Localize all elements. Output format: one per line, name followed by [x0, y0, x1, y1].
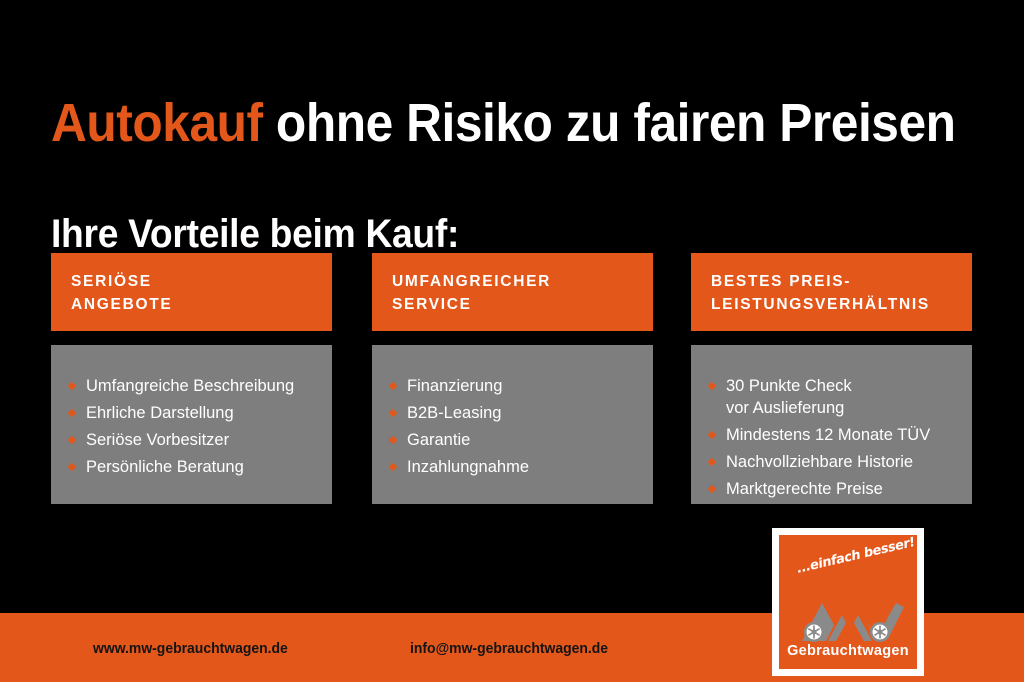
- benefit-column-2-list: Finanzierung B2B-Leasing Garantie Inzahl…: [372, 345, 653, 504]
- list-item: Nachvollziehbare Historie: [709, 451, 958, 473]
- bullet-diamond-icon: [708, 485, 716, 493]
- list-item-label: Seriöse Vorbesitzer: [86, 431, 229, 449]
- logo-slogan: ...einfach besser!: [795, 535, 916, 577]
- bullet-diamond-icon: [68, 382, 76, 390]
- list-item-label: Inzahlungnahme: [407, 458, 529, 476]
- benefit-column-1-header-line-2: ANGEBOTE: [71, 293, 312, 316]
- list-item-label: Marktgerechte Preise: [726, 480, 883, 498]
- list-item-label: Mindestens 12 Monate TÜV: [726, 426, 930, 444]
- benefit-column-3-list: 30 Punkte Check vor Auslieferung Mindest…: [691, 345, 972, 504]
- section-subtitle: Ihre Vorteile beim Kauf:: [51, 211, 459, 257]
- bullet-diamond-icon: [708, 431, 716, 439]
- benefit-column-2-header-line-1: UMFANGREICHER: [392, 270, 633, 293]
- mw-monogram-icon: [792, 595, 904, 643]
- benefit-column-1-header-line-1: SERIÖSE: [71, 270, 312, 293]
- footer-website-link[interactable]: www.mw-gebrauchtwagen.de: [93, 640, 288, 657]
- list-item-label: Umfangreiche Beschreibung: [86, 377, 294, 395]
- company-logo: ...einfach besser!: [772, 528, 924, 676]
- list-item: 30 Punkte Check vor Auslieferung: [709, 375, 958, 419]
- list-item: Inzahlungnahme: [390, 456, 639, 478]
- page-title-accent: Autokauf: [51, 93, 263, 153]
- benefit-column-3: BESTES PREIS- LEISTUNGSVERHÄLTNIS 30 Pun…: [691, 253, 972, 331]
- bullet-diamond-icon: [389, 409, 397, 417]
- list-item: Mindestens 12 Monate TÜV: [709, 424, 958, 446]
- page-title: Autokauf ohne Risiko zu fairen Preisen: [51, 93, 956, 153]
- list-item-label: Garantie: [407, 431, 470, 449]
- bullet-diamond-icon: [708, 458, 716, 466]
- list-item: Persönliche Beratung: [69, 456, 318, 478]
- list-item-label: Ehrliche Darstellung: [86, 404, 234, 422]
- company-logo-inner: ...einfach besser!: [779, 535, 917, 669]
- benefit-column-3-header-line-2: LEISTUNGSVERHÄLTNIS: [711, 293, 952, 316]
- bullet-diamond-icon: [389, 463, 397, 471]
- logo-company-name: Gebrauchtwagen: [779, 643, 917, 659]
- list-item: B2B-Leasing: [390, 402, 639, 424]
- page-title-rest: ohne Risiko zu fairen Preisen: [263, 93, 956, 153]
- benefit-column-1-header: SERIÖSE ANGEBOTE: [51, 253, 332, 331]
- bullet-diamond-icon: [68, 436, 76, 444]
- footer-email-link[interactable]: info@mw-gebrauchtwagen.de: [410, 640, 608, 657]
- benefit-column-2-header: UMFANGREICHER SERVICE: [372, 253, 653, 331]
- list-item-label: Persönliche Beratung: [86, 458, 244, 476]
- bullet-diamond-icon: [389, 436, 397, 444]
- bullet-diamond-icon: [68, 463, 76, 471]
- benefit-column-3-header: BESTES PREIS- LEISTUNGSVERHÄLTNIS: [691, 253, 972, 331]
- benefit-column-1: SERIÖSE ANGEBOTE Umfangreiche Beschreibu…: [51, 253, 332, 331]
- list-item-label: 30 Punkte Check: [726, 377, 852, 395]
- list-item: Umfangreiche Beschreibung: [69, 375, 318, 397]
- benefit-column-3-header-line-1: BESTES PREIS-: [711, 270, 952, 293]
- list-item-label: Nachvollziehbare Historie: [726, 453, 913, 471]
- bullet-diamond-icon: [389, 382, 397, 390]
- list-item-label-second-line: vor Auslieferung: [726, 397, 958, 419]
- list-item: Finanzierung: [390, 375, 639, 397]
- list-item-label: B2B-Leasing: [407, 404, 501, 422]
- benefit-column-1-list: Umfangreiche Beschreibung Ehrliche Darst…: [51, 345, 332, 504]
- poster-canvas: Autokauf ohne Risiko zu fairen Preisen I…: [0, 0, 1024, 682]
- list-item: Garantie: [390, 429, 639, 451]
- benefit-column-2-header-line-2: SERVICE: [392, 293, 633, 316]
- benefit-column-2: UMFANGREICHER SERVICE Finanzierung B2B-L…: [372, 253, 653, 331]
- bullet-diamond-icon: [708, 382, 716, 390]
- list-item: Ehrliche Darstellung: [69, 402, 318, 424]
- bullet-diamond-icon: [68, 409, 76, 417]
- list-item: Seriöse Vorbesitzer: [69, 429, 318, 451]
- list-item-label: Finanzierung: [407, 377, 502, 395]
- list-item: Marktgerechte Preise: [709, 478, 958, 500]
